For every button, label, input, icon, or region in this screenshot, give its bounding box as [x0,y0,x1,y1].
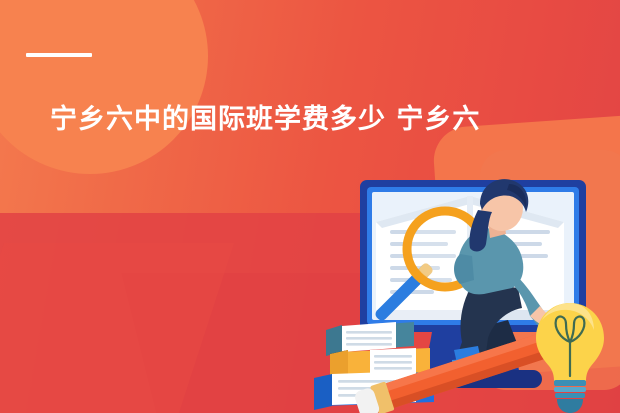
accent-rule [26,53,92,57]
promo-banner: 宁乡六中的国际班学费多少 宁乡六 [0,0,620,413]
online-study-illustration [312,170,620,413]
lightbulb-icon [536,303,604,413]
page-title: 宁乡六中的国际班学费多少 宁乡六 [50,100,550,140]
